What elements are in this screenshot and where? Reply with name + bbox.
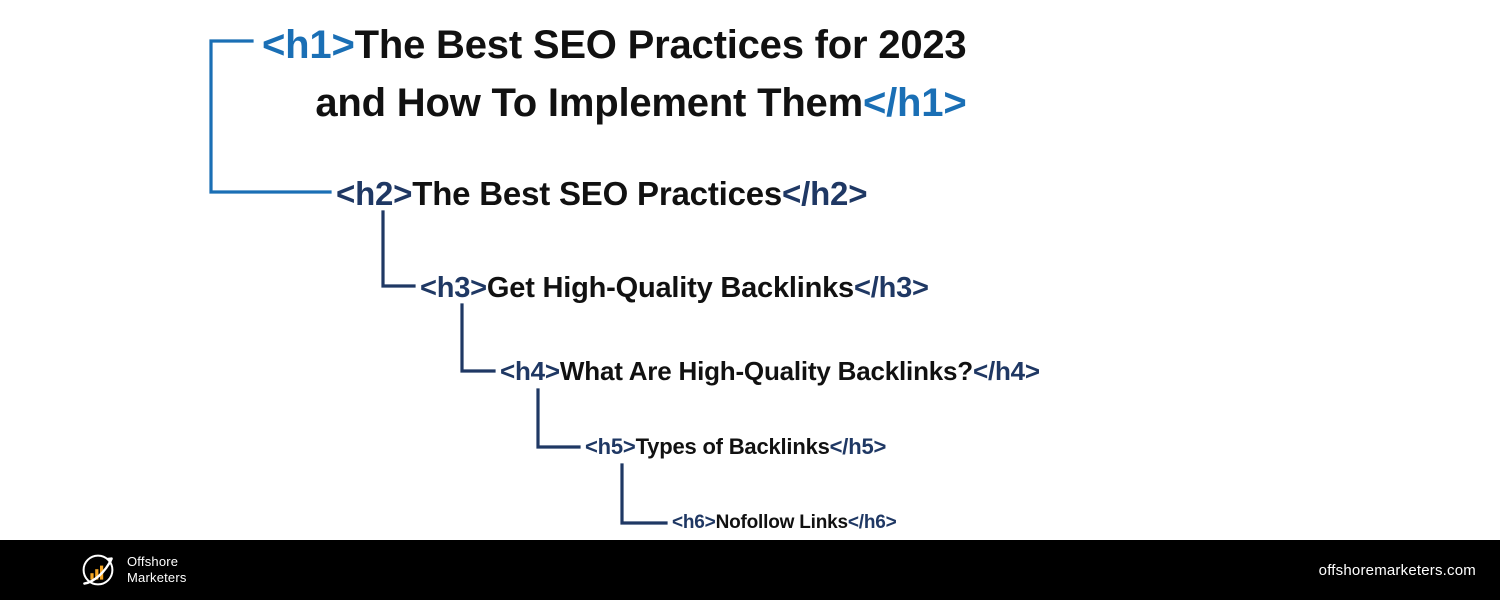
- h1-close-tag: </h1>: [863, 81, 967, 125]
- h5-title: Types of Backlinks: [636, 434, 830, 459]
- heading-node-h4: <h4>What Are High-Quality Backlinks?</h4…: [500, 355, 1040, 388]
- offshore-marketers-logo-icon: [78, 550, 118, 590]
- connector-h3-h4: [462, 305, 494, 371]
- seo-heading-hierarchy-infographic: <h1>The Best SEO Practices for 2023and H…: [0, 0, 1500, 600]
- h2-title: The Best SEO Practices: [412, 175, 782, 212]
- heading-node-h1: <h1>The Best SEO Practices for 2023and H…: [262, 16, 966, 132]
- connector-h5-h6: [622, 465, 666, 523]
- footer-website-url[interactable]: offshoremarketers.com: [1319, 562, 1476, 579]
- heading-node-h6: <h6>Nofollow Links</h6>: [672, 511, 897, 535]
- h6-title: Nofollow Links: [716, 512, 848, 533]
- h6-open-tag: <h6>: [672, 512, 716, 533]
- h3-open-tag: <h3>: [420, 272, 487, 304]
- h5-close-tag: </h5>: [830, 434, 886, 459]
- brand-lockup: Offshore Marketers: [78, 550, 187, 590]
- h5-open-tag: <h5>: [585, 434, 636, 459]
- heading-node-h5: <h5>Types of Backlinks</h5>: [585, 433, 886, 461]
- brand-name: Offshore Marketers: [127, 554, 187, 586]
- heading-node-h2: <h2>The Best SEO Practices</h2>: [336, 174, 867, 214]
- connector-h2-h3: [383, 212, 414, 286]
- h6-close-tag: </h6>: [848, 512, 897, 533]
- brand-name-line-2: Marketers: [127, 570, 187, 586]
- h4-close-tag: </h4>: [973, 356, 1040, 386]
- h4-open-tag: <h4>: [500, 356, 560, 386]
- h2-open-tag: <h2>: [336, 175, 412, 212]
- brand-name-line-1: Offshore: [127, 554, 187, 570]
- h4-title: What Are High-Quality Backlinks?: [560, 356, 973, 386]
- h1-title-line-2: and How To Implement Them: [315, 81, 863, 125]
- h3-close-tag: </h3>: [854, 272, 929, 304]
- h1-open-tag: <h1>: [262, 23, 355, 67]
- connector-h4-h5: [538, 390, 579, 447]
- heading-node-h3: <h3>Get High-Quality Backlinks</h3>: [420, 270, 929, 306]
- h1-title-line-1: The Best SEO Practices for 2023: [355, 23, 967, 67]
- footer-bar: Offshore Marketers offshoremarketers.com: [0, 540, 1500, 600]
- h2-close-tag: </h2>: [782, 175, 867, 212]
- heading-hierarchy-tree: <h1>The Best SEO Practices for 2023and H…: [0, 0, 1500, 540]
- h3-title: Get High-Quality Backlinks: [487, 272, 854, 304]
